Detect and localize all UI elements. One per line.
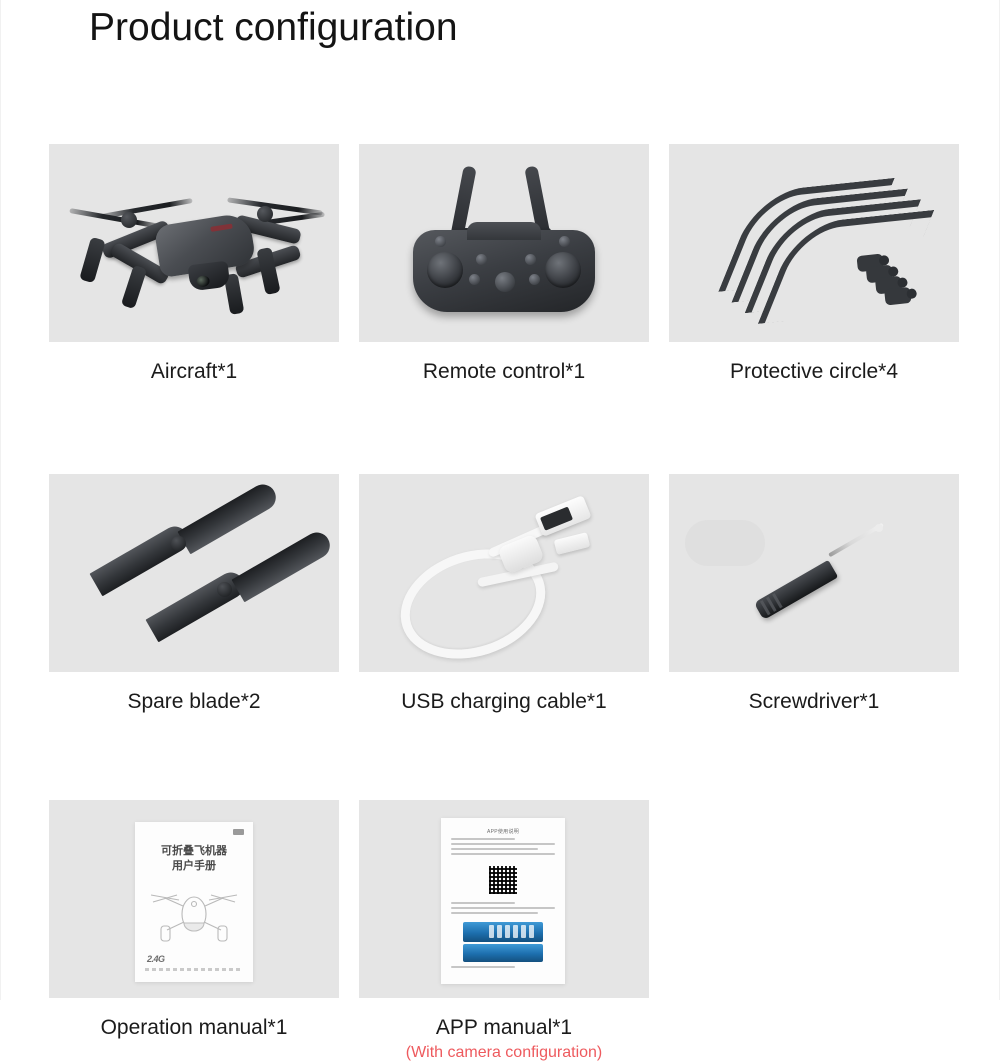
config-item-screwdriver[interactable]: Screwdriver*1 bbox=[669, 474, 959, 714]
blade-icon bbox=[177, 480, 280, 555]
item-label: Protective circle*4 bbox=[730, 360, 898, 384]
remote-button bbox=[529, 274, 540, 285]
manual-badge-icon bbox=[233, 829, 244, 835]
text-line bbox=[451, 907, 555, 909]
propeller-guard-image bbox=[669, 144, 959, 342]
item-label: Remote control*1 bbox=[423, 360, 585, 384]
text-line bbox=[451, 912, 538, 914]
usb-a-connector-icon bbox=[534, 495, 591, 537]
configuration-row-3: 可折叠飞机器 用户手册 bbox=[49, 800, 951, 1062]
text-line bbox=[451, 966, 515, 968]
remote-button bbox=[435, 236, 446, 247]
joystick-left bbox=[427, 252, 463, 288]
text-line bbox=[451, 902, 515, 904]
configuration-row-2: Spare blade*2 USB charging cable*1 bbox=[49, 474, 951, 714]
app-manual-sheet: APP使用说明 bbox=[441, 818, 565, 984]
app-icon bbox=[529, 925, 534, 938]
product-configuration-page: Product configuration bbox=[0, 0, 1000, 1000]
propeller-blade-icon bbox=[101, 198, 192, 219]
drone-image bbox=[49, 144, 339, 342]
remote-button bbox=[469, 274, 480, 285]
manual-brand-logo: 2.4G bbox=[147, 954, 165, 964]
row-spacer bbox=[49, 384, 951, 474]
app-manual-image: APP使用说明 bbox=[359, 800, 649, 998]
app-screenshot-icons bbox=[489, 925, 534, 938]
config-item-remote-control[interactable]: Remote control*1 bbox=[359, 144, 649, 384]
manual-title-line-1: 可折叠飞机器 bbox=[135, 844, 253, 859]
drone-leg bbox=[121, 265, 147, 309]
text-line bbox=[451, 843, 555, 845]
app-icon bbox=[521, 925, 526, 938]
remote-button bbox=[559, 236, 570, 247]
config-item-usb-cable[interactable]: USB charging cable*1 bbox=[359, 474, 649, 714]
motor-hub bbox=[121, 212, 137, 228]
text-line bbox=[451, 838, 515, 840]
config-item-aircraft[interactable]: Aircraft*1 bbox=[49, 144, 339, 384]
item-label: APP manual*1 bbox=[436, 1016, 572, 1040]
item-label: Operation manual*1 bbox=[101, 1016, 288, 1040]
app-icon bbox=[513, 925, 518, 938]
usb-micro-connector-icon bbox=[554, 532, 591, 555]
app-icon bbox=[489, 925, 494, 938]
config-item-operation-manual[interactable]: 可折叠飞机器 用户手册 bbox=[49, 800, 339, 1062]
screwdriver-handle bbox=[754, 560, 838, 620]
blade-icon bbox=[231, 528, 334, 603]
item-sublabel: (With camera configuration) bbox=[406, 1044, 603, 1062]
usb-cable-image bbox=[359, 474, 649, 672]
app-icon bbox=[497, 925, 502, 938]
app-screenshot bbox=[463, 944, 543, 962]
item-label: Aircraft*1 bbox=[151, 360, 237, 384]
remote-control-image bbox=[359, 144, 649, 342]
remote-button bbox=[525, 254, 536, 265]
drone-leg bbox=[79, 237, 106, 283]
configuration-grid: Aircraft*1 bbox=[49, 144, 951, 1062]
app-icon bbox=[505, 925, 510, 938]
app-manual-text-block bbox=[451, 838, 555, 858]
app-manual-heading: APP使用说明 bbox=[441, 828, 565, 835]
drone-camera-icon bbox=[188, 261, 231, 292]
qr-code-icon bbox=[489, 866, 517, 894]
watermark-blob bbox=[685, 520, 765, 566]
page-title: Product configuration bbox=[89, 6, 458, 50]
screwdriver-image bbox=[669, 474, 959, 672]
config-item-spare-blade[interactable]: Spare blade*2 bbox=[49, 474, 339, 714]
manual-drone-lineart bbox=[143, 884, 245, 946]
text-line bbox=[451, 848, 538, 850]
remote-button bbox=[476, 254, 487, 265]
propeller-guard-stack bbox=[717, 155, 923, 334]
config-item-app-manual[interactable]: APP使用说明 bbox=[359, 800, 649, 1062]
item-label: USB charging cable*1 bbox=[401, 690, 606, 714]
app-manual-text-block bbox=[451, 902, 555, 917]
manual-cover: 可折叠飞机器 用户手册 bbox=[135, 822, 253, 982]
manual-footer-text bbox=[145, 968, 243, 971]
item-label: Spare blade*2 bbox=[127, 690, 260, 714]
configuration-row-1: Aircraft*1 bbox=[49, 144, 951, 384]
app-screenshot bbox=[463, 922, 543, 942]
app-manual-text-block bbox=[451, 966, 555, 971]
screwdriver-tip bbox=[875, 524, 883, 532]
config-item-protective-circle[interactable]: Protective circle*4 bbox=[669, 144, 959, 384]
manual-title-line-2: 用户手册 bbox=[135, 859, 253, 874]
blade-icon bbox=[89, 522, 192, 597]
operation-manual-image: 可折叠飞机器 用户手册 bbox=[49, 800, 339, 998]
item-label: Screwdriver*1 bbox=[749, 690, 880, 714]
text-line bbox=[451, 853, 555, 855]
row-spacer bbox=[49, 714, 951, 800]
remote-power-button bbox=[495, 272, 515, 292]
joystick-right bbox=[545, 252, 581, 288]
motor-hub bbox=[257, 206, 273, 222]
manual-cover-title: 可折叠飞机器 用户手册 bbox=[135, 844, 253, 874]
spare-blade-image bbox=[49, 474, 339, 672]
guard-clip bbox=[906, 288, 917, 299]
